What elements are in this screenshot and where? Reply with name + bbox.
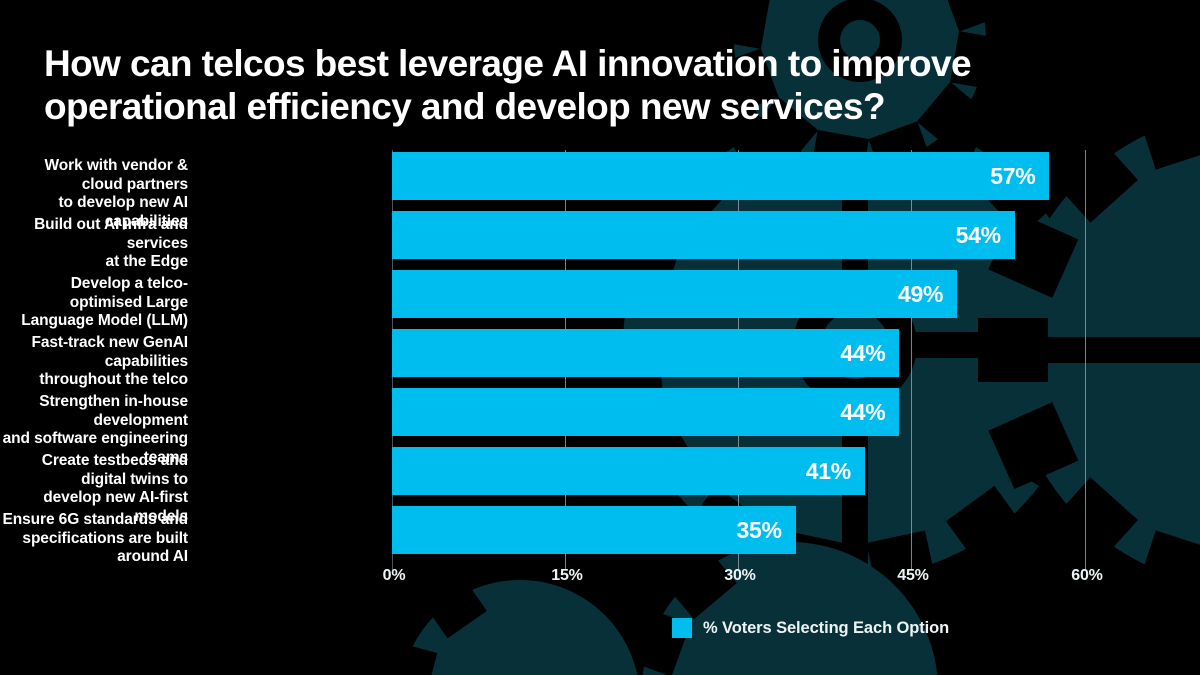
bar[interactable] [392,270,957,318]
bar-value-label: 35% [720,506,782,554]
category-label: Ensure 6G standards and specifications a… [0,511,188,567]
bar-value-label: 44% [823,388,885,436]
bar-value-label: 49% [881,270,943,318]
bar-value-label: 44% [823,329,885,377]
legend-label: % Voters Selecting Each Option [703,619,949,638]
x-tick-label: 60% [1071,567,1102,585]
bar-value-label: 41% [789,447,851,495]
category-label: Develop a telco-optimised Large Language… [0,275,188,331]
infographic-slide: How can telcos best leverage AI innovati… [0,0,1200,675]
bar[interactable] [392,211,1015,259]
category-label: Build out AI infra and services at the E… [0,216,188,272]
x-tick-label: 45% [897,567,928,585]
bar[interactable] [392,152,1049,200]
bar-value-label: 54% [939,211,1001,259]
legend-swatch-icon [672,618,692,638]
chart-legend: % Voters Selecting Each Option [672,618,949,638]
category-label: Fast-track new GenAI capabilities throug… [0,334,188,390]
bar-value-label: 57% [973,152,1035,200]
x-tick-label: 30% [724,567,755,585]
x-tick-label: 0% [383,567,406,585]
bar-chart: Work with vendor & cloud partners to dev… [0,0,1200,675]
x-tick-label: 15% [551,567,582,585]
gridline-60 [1085,150,1086,570]
